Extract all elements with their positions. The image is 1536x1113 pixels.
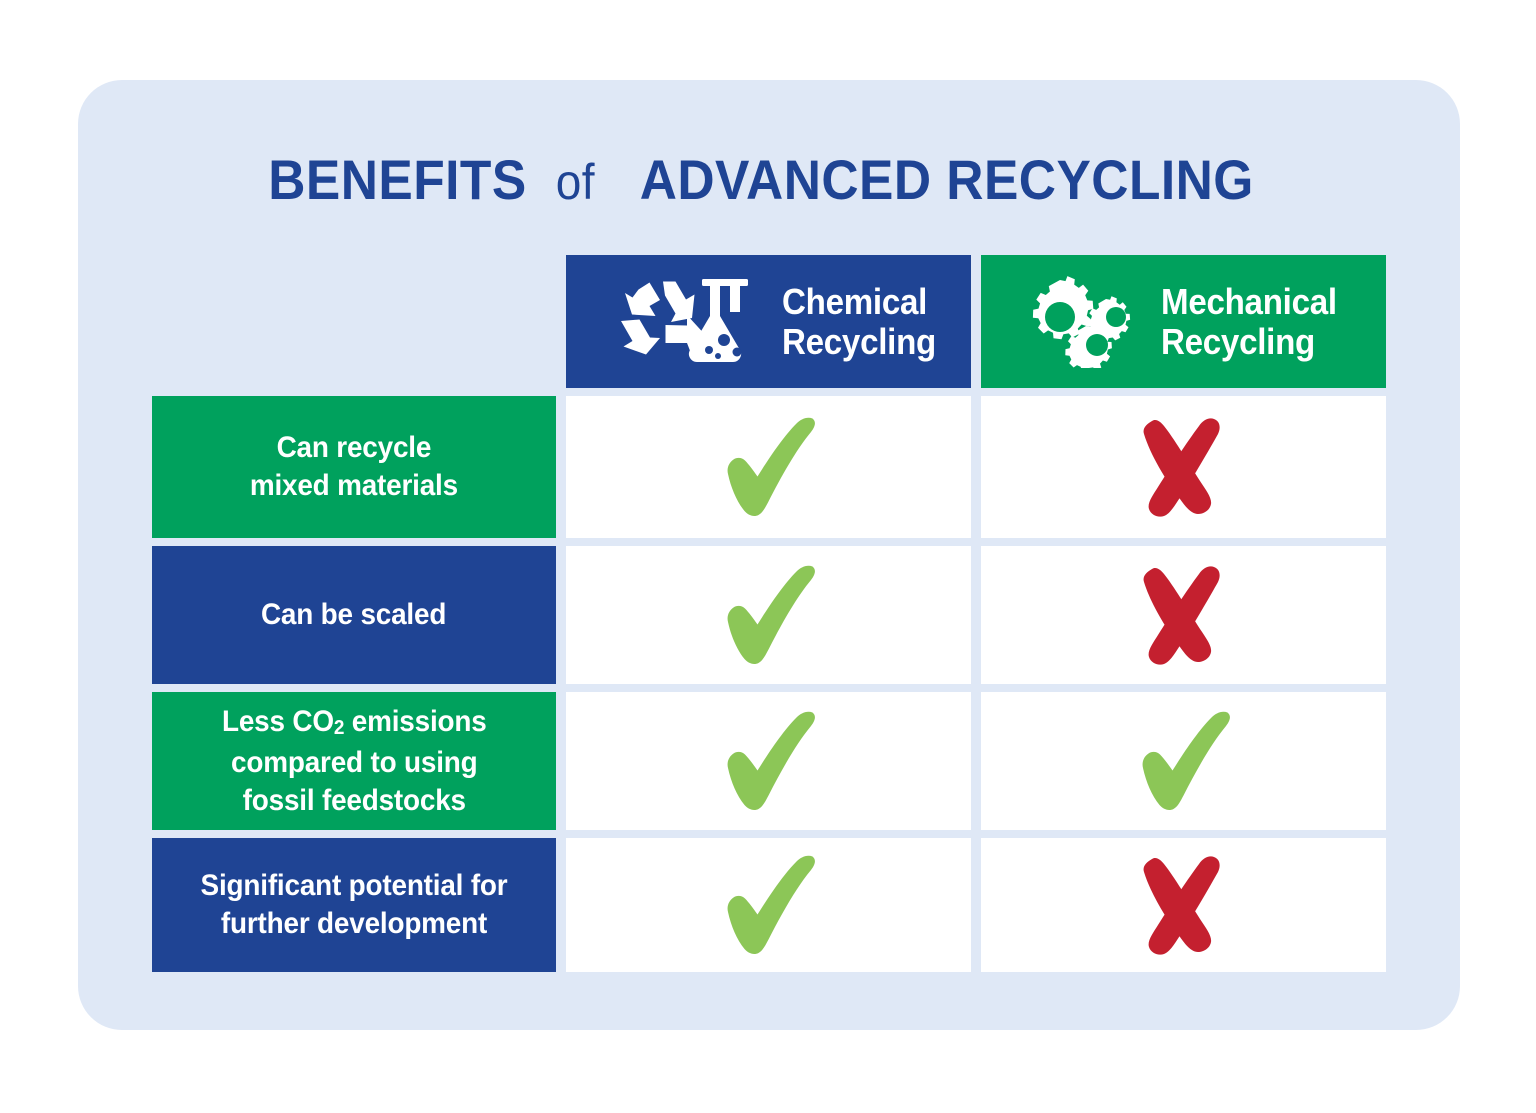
- row-label-line: further development: [221, 907, 487, 940]
- cell-mechanical-row0[interactable]: [981, 396, 1386, 538]
- flask-icon: [688, 276, 762, 368]
- check-mark-icon: [711, 560, 827, 670]
- cell-mechanical-row2[interactable]: [981, 692, 1386, 830]
- column-header-mechanical[interactable]: Mechanical Recycling: [981, 255, 1386, 388]
- row-label-line: fossil feedstocks: [242, 784, 465, 817]
- comparison-table: Chemical Recycling: [152, 255, 1386, 972]
- check-mark-icon: [711, 706, 827, 816]
- cell-chemical-row0[interactable]: [566, 396, 971, 538]
- gears-icon: [1023, 276, 1141, 368]
- cross-mark-icon: [1134, 415, 1234, 519]
- row-label-line: Can recycle: [277, 431, 432, 464]
- cross-mark-icon: [1134, 853, 1234, 957]
- row-label-line: Can be scaled: [261, 598, 446, 631]
- chemical-label-line1: Chemical: [782, 282, 936, 322]
- row-label-can-be-scaled: Can be scaled: [152, 546, 556, 684]
- row-label-line: Less CO2 emissions: [222, 705, 487, 738]
- column-header-chemical-label: Chemical Recycling: [782, 282, 949, 362]
- row-label-significant-potential: Significant potential for further develo…: [152, 838, 556, 972]
- check-mark-icon: [1126, 706, 1242, 816]
- page-title: BENEFITS of ADVANCED RECYCLING: [78, 148, 1460, 214]
- header-corner-spacer: [152, 255, 556, 388]
- table-row: Can recycle mixed materials: [152, 396, 1386, 538]
- table-row: Less CO2 emissions compared to using fos…: [152, 692, 1386, 830]
- mechanical-label-line1: Mechanical: [1161, 282, 1337, 322]
- table-header-row: Chemical Recycling: [152, 255, 1386, 388]
- column-header-chemical[interactable]: Chemical Recycling: [566, 255, 971, 388]
- mechanical-label-line2: Recycling: [1161, 322, 1337, 362]
- benefits-card: BENEFITS of ADVANCED RECYCLING: [78, 80, 1460, 1030]
- title-part-advanced-recycling: ADVANCED RECYCLING: [640, 148, 1254, 212]
- row-label-line: Significant potential for: [201, 869, 508, 902]
- row-label-line: mixed materials: [250, 469, 458, 502]
- check-mark-icon: [711, 412, 827, 522]
- table-row: Can be scaled: [152, 546, 1386, 684]
- title-part-benefits: BENEFITS: [269, 148, 527, 212]
- column-header-mechanical-label: Mechanical Recycling: [1161, 282, 1352, 362]
- table-row: Significant potential for further develo…: [152, 838, 1386, 972]
- cell-chemical-row1[interactable]: [566, 546, 971, 684]
- cell-mechanical-row3[interactable]: [981, 838, 1386, 972]
- row-label-can-recycle-mixed-materials: Can recycle mixed materials: [152, 396, 556, 538]
- title-part-of: of: [556, 150, 595, 214]
- infographic-canvas: BENEFITS of ADVANCED RECYCLING: [0, 0, 1536, 1113]
- cell-chemical-row3[interactable]: [566, 838, 971, 972]
- check-mark-icon: [711, 850, 827, 960]
- cell-mechanical-row1[interactable]: [981, 546, 1386, 684]
- row-label-less-co2-emissions: Less CO2 emissions compared to using fos…: [152, 692, 556, 830]
- row-label-line: compared to using: [231, 746, 477, 779]
- chemical-label-line2: Recycling: [782, 322, 936, 362]
- cell-chemical-row2[interactable]: [566, 692, 971, 830]
- cross-mark-icon: [1134, 563, 1234, 667]
